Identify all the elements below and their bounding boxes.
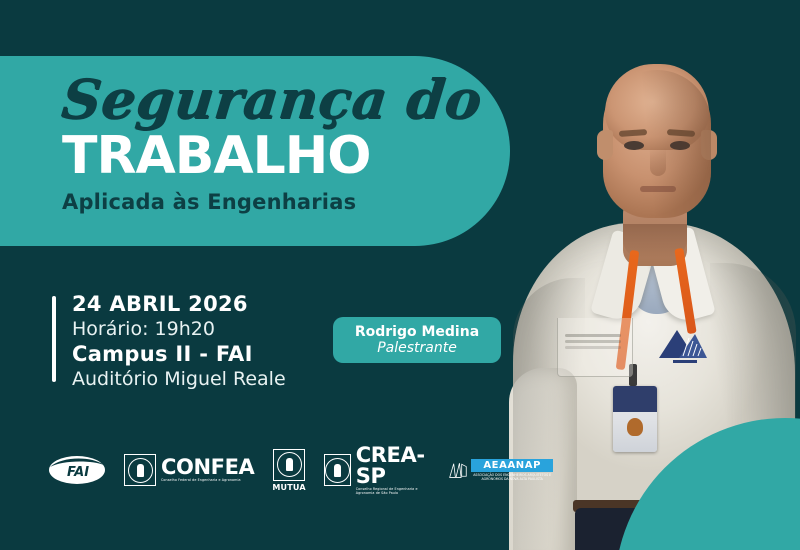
event-details: 24 ABRIL 2026 Horário: 19h20 Campus II -…: [52, 292, 286, 391]
event-poster: Segurança do TRABALHO Aplicada às Engenh…: [0, 0, 800, 550]
mutua-seal-figure: [286, 458, 293, 471]
title-subtitle: Aplicada às Engenharias: [62, 190, 492, 214]
event-place: Campus II - FAI: [72, 341, 286, 367]
shirt-pocket-text: [565, 334, 621, 337]
logo-confea: CONFEA Conselho Federal de Engenharia e …: [124, 454, 254, 486]
mutua-seal-inner: [277, 452, 302, 477]
logo-aeaanap: AEAANAP ASSOCIAÇÃO DOS ENGENHEIROS ARQUI…: [448, 455, 554, 485]
title-main-line: TRABALHO: [62, 130, 492, 182]
logo-fai: FAI: [48, 454, 106, 486]
confea-name: CONFEA: [161, 457, 254, 478]
chest-company-logo-icon: [655, 324, 713, 366]
title-block: Segurança do TRABALHO Aplicada às Engenh…: [62, 70, 492, 214]
event-time: Horário: 19h20: [72, 317, 286, 341]
id-badge-header: [613, 386, 657, 412]
crea-seal-icon: [324, 454, 351, 486]
mutua-name: MUTUA: [272, 483, 305, 492]
speaker-name: Rodrigo Medina: [355, 324, 479, 340]
face-shadow: [603, 70, 711, 218]
crea-name: CREA-SP: [356, 445, 430, 487]
crea-subtitle: Conselho Regional de Engenharia e Agrono…: [356, 487, 430, 496]
svg-text:FAI: FAI: [67, 465, 89, 480]
confea-text: CONFEA Conselho Federal de Engenharia e …: [161, 457, 254, 482]
shirt-pocket: [557, 318, 633, 377]
logo-crea-sp: CREA-SP Conselho Regional de Engenharia …: [324, 445, 430, 496]
speaker-badge: Rodrigo Medina Palestrante: [333, 317, 501, 363]
aeaanap-text: AEAANAP ASSOCIAÇÃO DOS ENGENHEIROS ARQUI…: [471, 459, 553, 481]
confea-seal-icon: [124, 454, 156, 486]
confea-seal-figure: [137, 464, 144, 477]
crea-seal-inner: [325, 458, 350, 483]
logo-row: FAI CONFEA Conselho Federal de Engenhari…: [48, 446, 518, 494]
logo-mutua: MUTUA: [272, 449, 305, 492]
crea-seal-figure: [334, 464, 341, 477]
mutua-seal-icon: [273, 449, 305, 481]
aeaanap-name: AEAANAP: [471, 459, 553, 472]
event-room: Auditório Miguel Reale: [72, 367, 286, 391]
speaker-role: Palestrante: [377, 340, 457, 356]
aeaanap-subtitle: ASSOCIAÇÃO DOS ENGENHEIROS ARQUITETOS E …: [471, 472, 553, 481]
id-badge-seal-icon: [627, 418, 643, 436]
confea-subtitle: Conselho Federal de Engenharia e Agronom…: [161, 478, 254, 482]
event-date: 24 ABRIL 2026: [72, 292, 286, 317]
confea-seal-inner: [128, 458, 153, 483]
title-script-line: Segurança do: [59, 70, 495, 128]
fai-logo-icon: FAI: [48, 454, 106, 486]
crea-text: CREA-SP Conselho Regional de Engenharia …: [356, 445, 430, 496]
aeaanap-mark-icon: [448, 455, 467, 485]
